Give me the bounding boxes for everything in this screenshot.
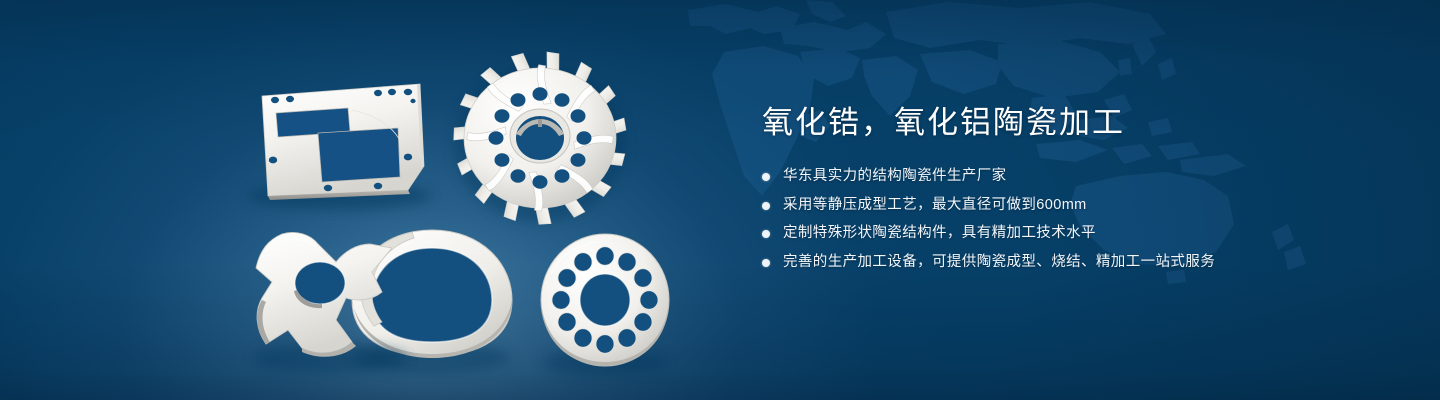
list-item: 华东具实力的结构陶瓷件生产厂家 <box>762 167 1382 187</box>
page-title: 氧化锆，氧化铝陶瓷加工 <box>762 104 1382 141</box>
feature-list: 华东具实力的结构陶瓷件生产厂家 采用等静压成型工艺，最大直径可做到600mm 定… <box>762 167 1382 272</box>
ceramic-perforated-disc-part <box>541 234 669 375</box>
list-item: 完善的生产加工设备，可提供陶瓷成型、烧结、精加工一站式服务 <box>762 253 1382 273</box>
ceramic-plate-part <box>248 84 432 210</box>
ceramic-products-image <box>0 0 740 400</box>
bullet-dot-icon <box>762 173 770 181</box>
ceramic-processing-banner: 氧化锆，氧化铝陶瓷加工 华东具实力的结构陶瓷件生产厂家 采用等静压成型工艺，最大… <box>0 0 1440 400</box>
bullet-dot-icon <box>762 202 770 210</box>
bullet-dot-icon <box>762 259 770 267</box>
feature-text: 采用等静压成型工艺，最大直径可做到600mm <box>783 196 1087 216</box>
list-item: 采用等静压成型工艺，最大直径可做到600mm <box>762 196 1382 216</box>
bullet-dot-icon <box>762 230 770 238</box>
feature-text: 华东具实力的结构陶瓷件生产厂家 <box>783 167 1007 187</box>
ceramic-impeller-part <box>452 50 627 226</box>
feature-text: 完善的生产加工设备，可提供陶瓷成型、烧结、精加工一站式服务 <box>783 253 1215 273</box>
list-item: 定制特殊形状陶瓷结构件，具有精加工技术水平 <box>762 224 1382 244</box>
feature-text: 定制特殊形状陶瓷结构件，具有精加工技术水平 <box>783 224 1096 244</box>
banner-copy: 氧化锆，氧化铝陶瓷加工 华东具实力的结构陶瓷件生产厂家 采用等静压成型工艺，最大… <box>762 104 1382 281</box>
